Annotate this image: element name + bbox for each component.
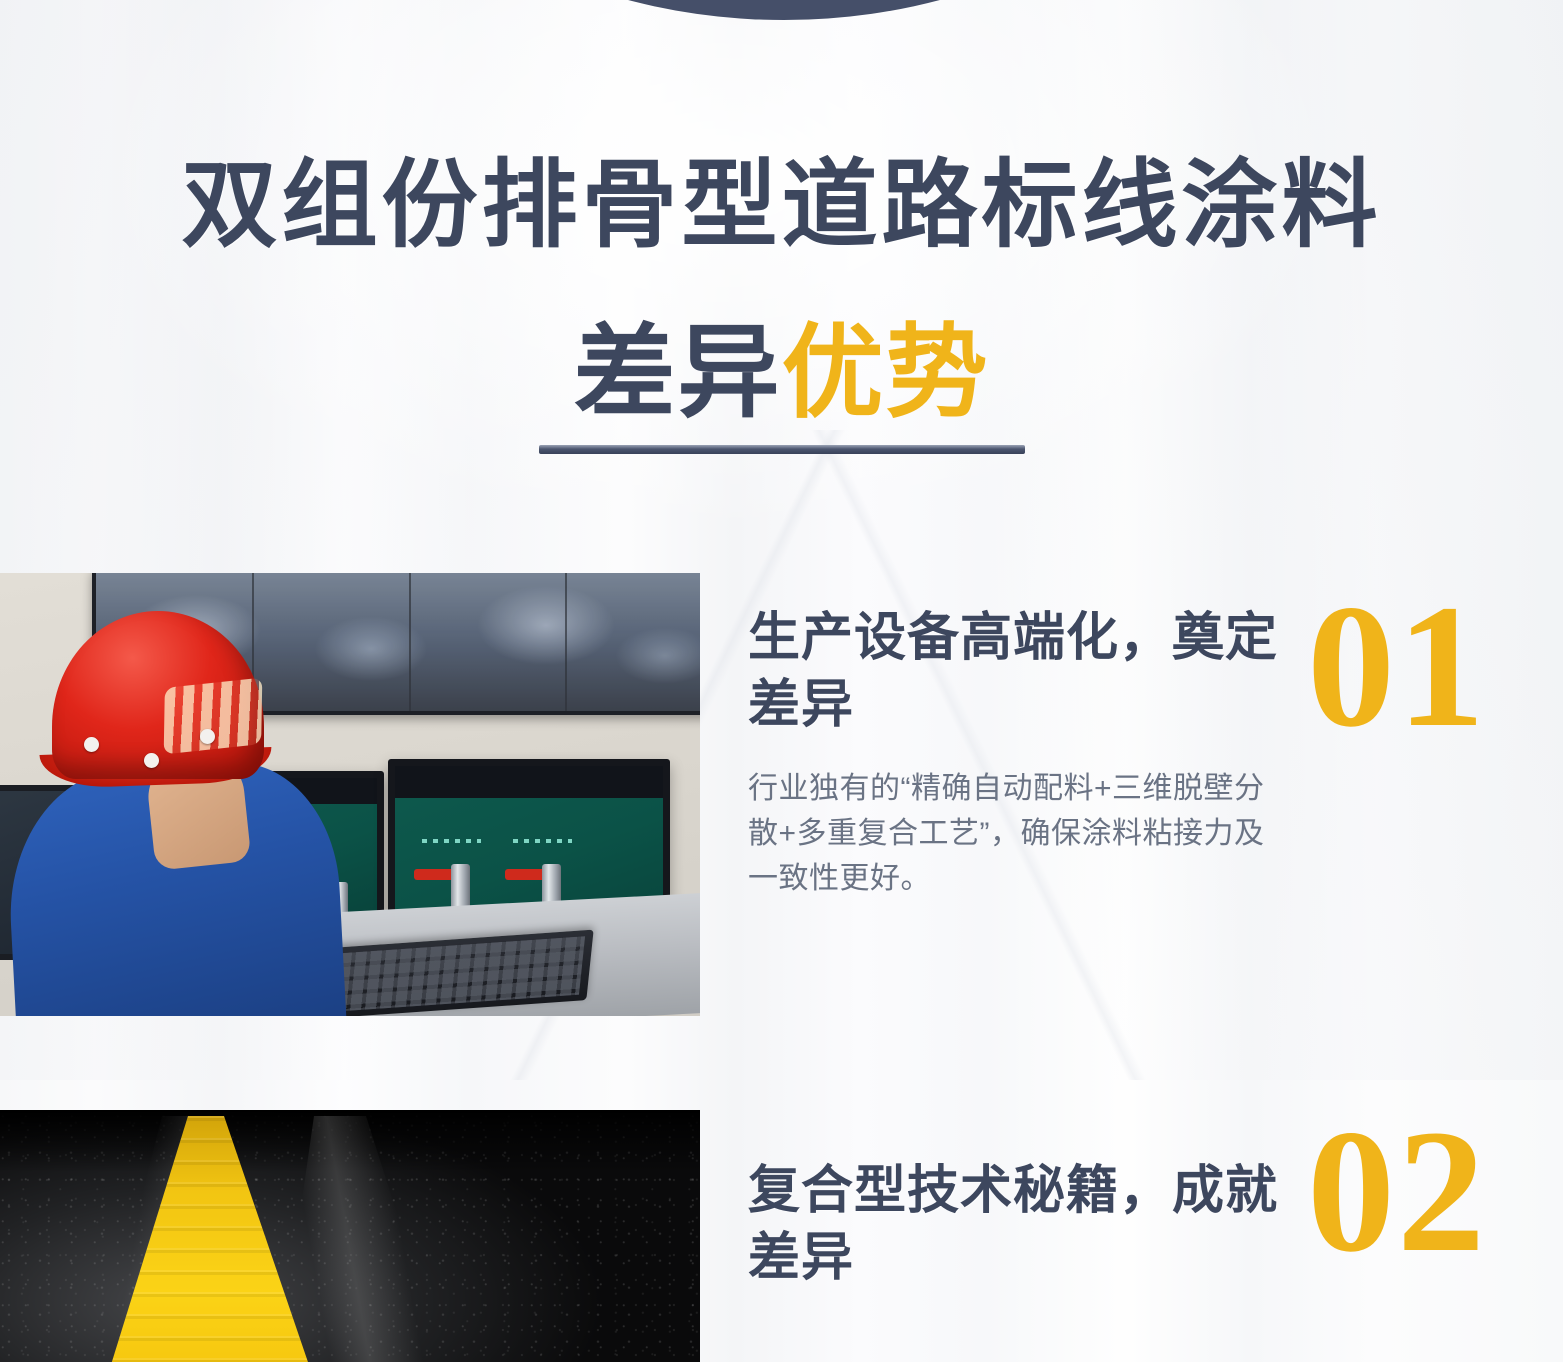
page-title: 双组份排骨型道路标线涂料: [0, 150, 1563, 261]
road-marking-image: [0, 1110, 700, 1362]
scada-indicator-row: [422, 839, 481, 843]
hard-hat-rivet: [144, 753, 159, 768]
feature-photo-road-marking: [0, 1110, 700, 1362]
subtitle: 差异优势: [574, 320, 990, 427]
feature-02-heading: 复合型技术秘籍，成就差异: [748, 1158, 1288, 1291]
subtitle-dark-part: 差异: [574, 316, 782, 430]
feature-01-heading: 生产设备高端化，奠定差异: [748, 605, 1288, 738]
feature-01-body: 行业独有的“精确自动配料+三维脱壁分散+多重复合工艺”，确保涂料粘接力及一致性更…: [748, 766, 1293, 901]
hard-hat-rivet: [200, 729, 215, 744]
hard-hat-rivet: [84, 737, 99, 752]
feature-01-number: 01: [1307, 579, 1487, 755]
feature-row-02: 复合型技术秘籍，成就差异 02: [0, 1110, 1563, 1362]
subtitle-underline-bar: [539, 445, 1025, 454]
scada-pipe: [505, 869, 548, 880]
feature-photo-control-room: [0, 573, 700, 1016]
page-header: 双组份排骨型道路标线涂料 差异优势: [0, 0, 1563, 560]
video-wall-tile: [565, 573, 700, 711]
scada-pipe: [414, 869, 457, 880]
product-detail-page: 双组份排骨型道路标线涂料 差异优势: [0, 0, 1563, 1362]
control-room-image: [0, 573, 700, 1016]
video-wall-tile: [409, 573, 567, 711]
hard-hat-reflection: [164, 678, 263, 755]
video-wall-tile: [252, 573, 410, 711]
feature-row-01: 生产设备高端化，奠定差异 行业独有的“精确自动配料+三维脱壁分散+多重复合工艺”…: [0, 573, 1563, 1016]
scada-indicator-row: [513, 839, 572, 843]
feature-02-text: 复合型技术秘籍，成就差异 02: [748, 1110, 1523, 1362]
subtitle-block: 差异优势: [0, 320, 1563, 454]
feature-01-text: 生产设备高端化，奠定差异 行业独有的“精确自动配料+三维脱壁分散+多重复合工艺”…: [748, 573, 1523, 1048]
subtitle-gold-part: 优势: [782, 316, 990, 430]
feature-02-number: 02: [1307, 1104, 1487, 1280]
